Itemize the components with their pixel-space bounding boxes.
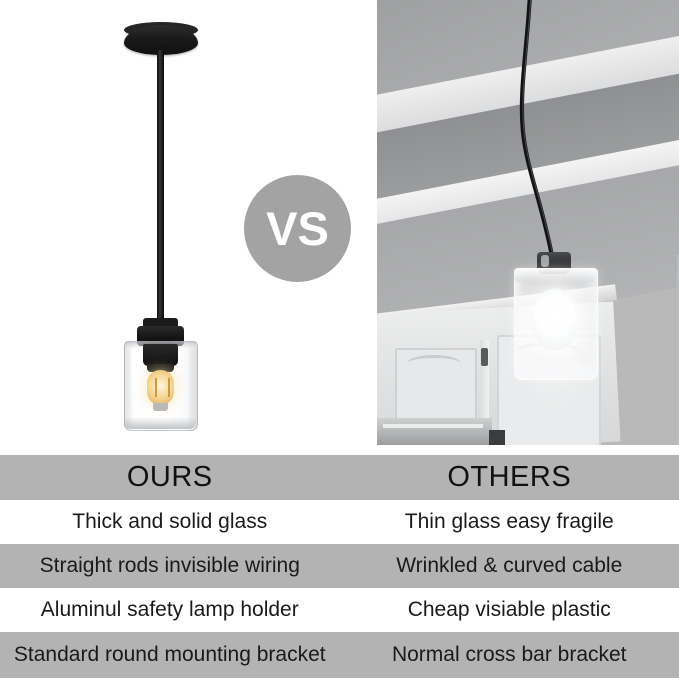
cell-others-2: Wrinkled & curved cable [340,544,679,588]
photo-glass-rim-top [514,268,596,282]
cell-ours-3: Aluminul safety lamp holder [0,588,340,632]
vs-badge: VS [244,175,351,282]
glass-rim-bottom-icon [124,417,196,429]
cell-others-4: Normal cross bar bracket [340,632,679,678]
table-row: Straight rods invisible wiring Wrinkled … [0,544,679,588]
table-row: Thick and solid glass Thin glass easy fr… [0,500,679,544]
cell-others-1: Thin glass easy fragile [340,500,679,544]
vs-badge-label: VS [266,205,329,252]
comparison-table: OURS OTHERS Thick and solid glass Thin g… [0,455,679,679]
photo-appliance [377,418,492,445]
photo-appliance-trim [383,424,483,428]
table-row: Standard round mounting bracket Normal c… [0,632,679,678]
column-header-others: OTHERS [340,455,679,500]
straight-rod-icon [157,50,164,322]
photo-cabinet-hinge-top-icon [481,348,488,366]
photo-appliance-handle-icon [489,430,505,445]
table-row: Aluminul safety lamp holder Cheap visiab… [0,588,679,632]
photo-light-glow [507,330,603,410]
cell-ours-4: Standard round mounting bracket [0,632,340,678]
photo-cabinet-arch-a [407,355,461,372]
glass-highlight-icon [131,348,138,420]
cell-ours-1: Thick and solid glass [0,500,340,544]
others-product-image [377,0,679,445]
bulb-base-icon [153,403,168,411]
photo-socket-highlight [541,255,549,267]
cell-others-3: Cheap visiable plastic [340,588,679,632]
column-header-ours: OURS [0,455,340,500]
table-header-row: OURS OTHERS [0,455,679,500]
comparison-infographic: VS [0,0,679,679]
cell-ours-2: Straight rods invisible wiring [0,544,340,588]
product-comparison-images: VS [0,0,679,452]
bulb-filament-icon [155,378,170,397]
wrinkled-curved-cable-icon [377,0,679,260]
inner-socket-cap-icon [143,344,178,366]
